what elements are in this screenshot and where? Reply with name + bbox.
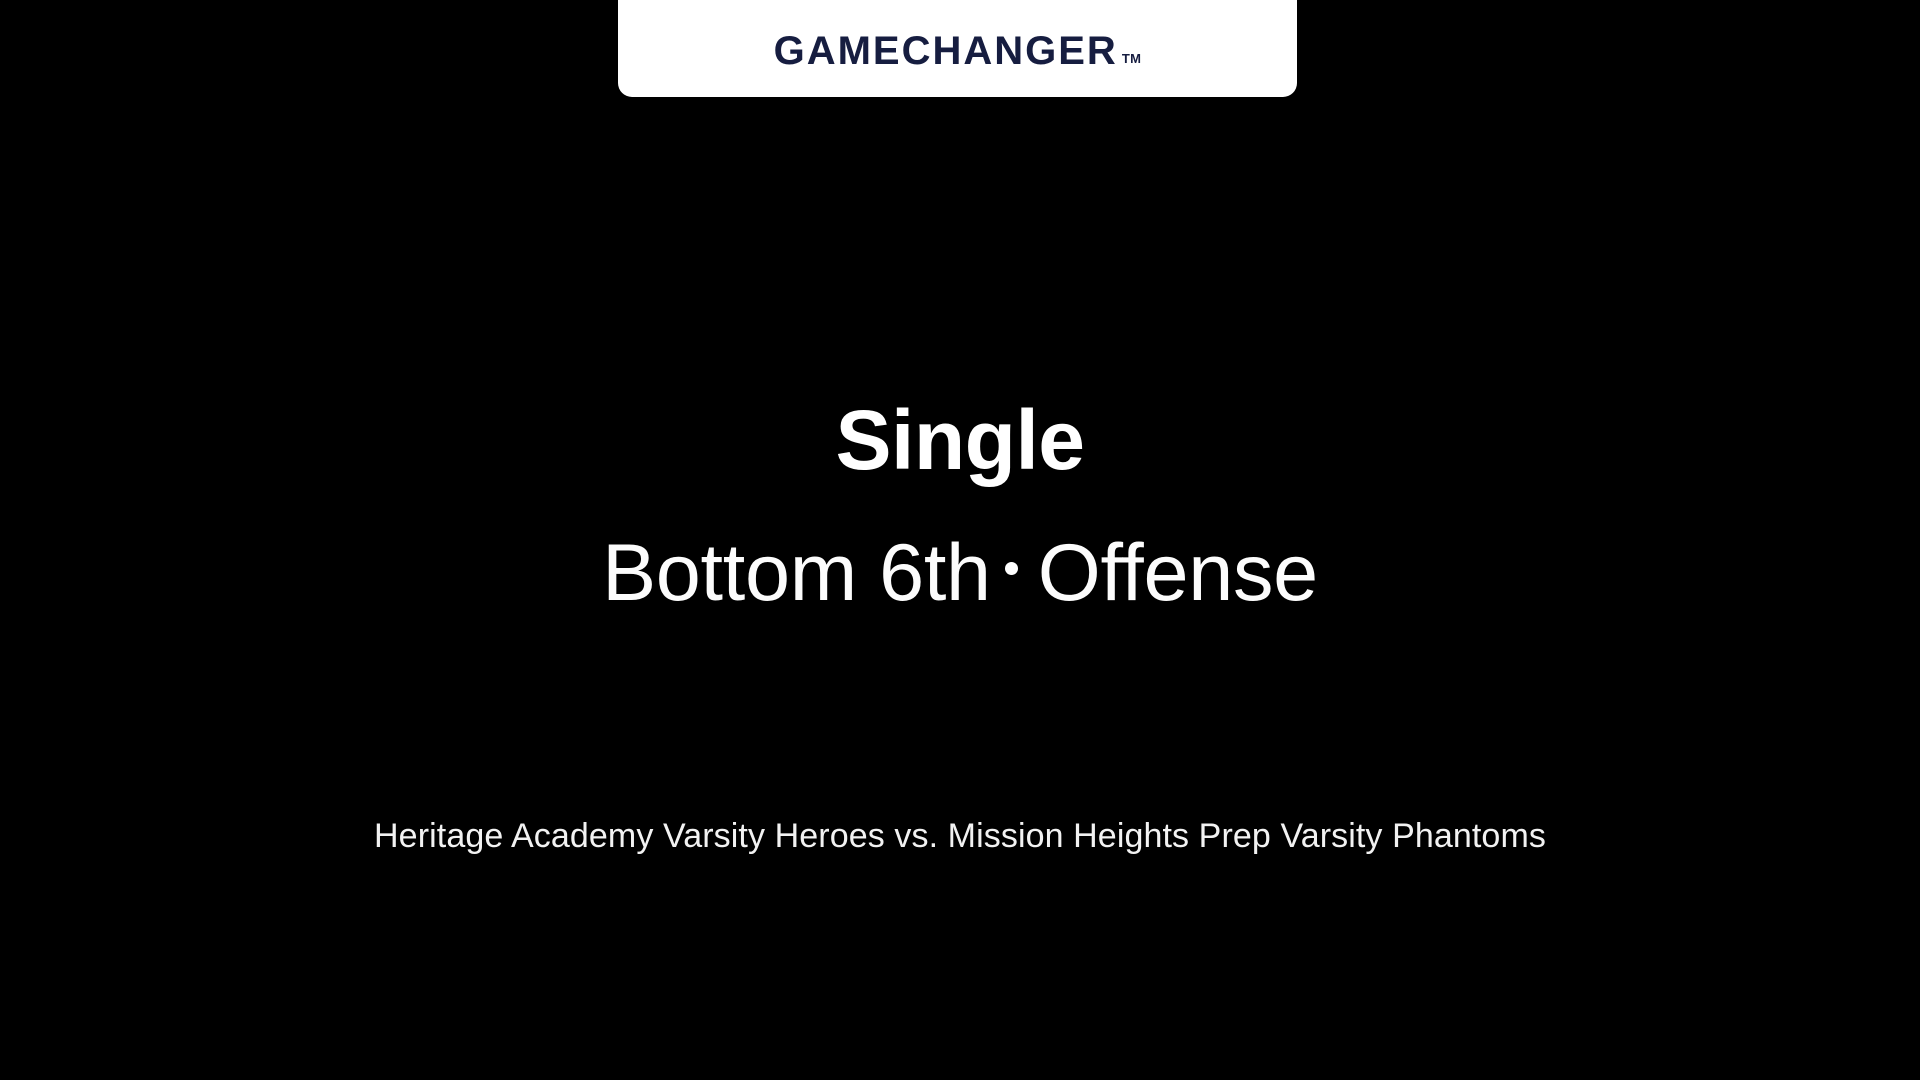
gamechanger-logo-card: GAMECHANGER TM bbox=[618, 0, 1297, 97]
play-situation-line: Bottom 6thOffense bbox=[0, 532, 1920, 615]
bullet-separator-icon bbox=[1005, 562, 1018, 575]
video-overlay-screen: GAMECHANGER TM Single Bottom 6thOffense … bbox=[0, 0, 1920, 1080]
offense-defense-label: Offense bbox=[1038, 528, 1318, 618]
gamechanger-wordmark: GAMECHANGER bbox=[774, 31, 1118, 71]
game-matchup-caption: Heritage Academy Varsity Heroes vs. Miss… bbox=[240, 806, 1680, 868]
inning-label: Bottom 6th bbox=[602, 528, 991, 618]
brand-lockup: GAMECHANGER TM bbox=[774, 31, 1142, 71]
play-result-title: Single bbox=[0, 398, 1920, 484]
trademark-symbol: TM bbox=[1122, 52, 1142, 65]
